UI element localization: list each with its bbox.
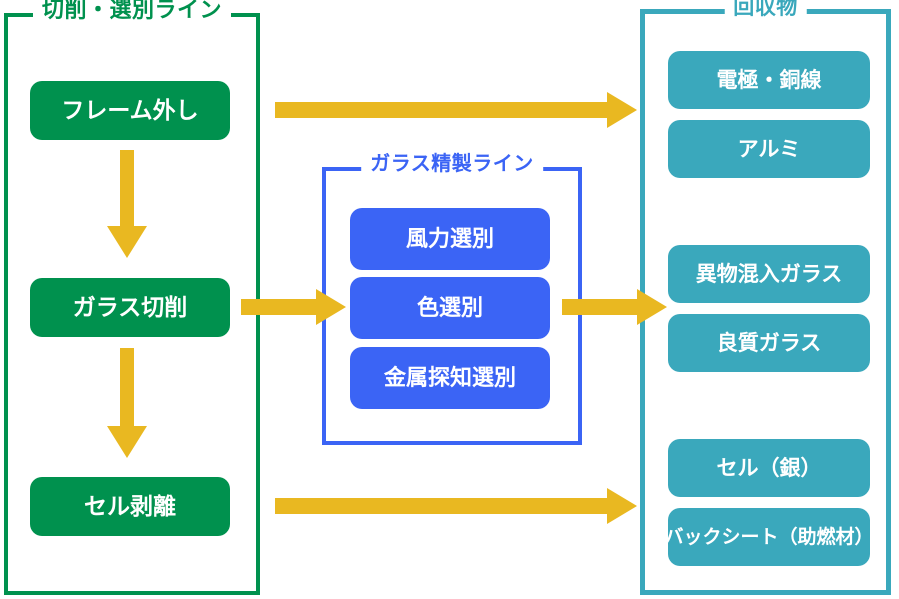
node-backsheet-auxiliary-fuel[interactable]: バックシート（助燃材） — [668, 508, 870, 566]
arrow-shaft — [562, 299, 642, 315]
node-cell-silver[interactable]: セル（銀） — [668, 439, 870, 497]
node-glass-cutting[interactable]: ガラス切削 — [30, 278, 230, 337]
node-color-separation[interactable]: 色選別 — [350, 277, 550, 339]
node-color-separation-label: 色選別 — [417, 297, 483, 319]
arrow-frame-removal-to-recovered — [275, 92, 637, 128]
node-quality-glass[interactable]: 良質ガラス — [668, 314, 870, 372]
group-glass-refining-title: ガラス精製ライン — [361, 153, 543, 175]
node-air-separation[interactable]: 風力選別 — [350, 208, 550, 270]
node-air-separation-label: 風力選別 — [406, 228, 494, 250]
node-cell-peeling-label: セル剥離 — [84, 495, 176, 518]
arrow-head-right-icon — [316, 289, 346, 325]
group-cutting-line-title: 切削・選別ライン — [33, 0, 231, 22]
arrow-shaft — [275, 102, 615, 118]
node-electrode-copper-wire-label: 電極・銅線 — [717, 70, 822, 91]
arrow-head-right-icon — [607, 92, 637, 128]
node-quality-glass-label: 良質ガラス — [717, 333, 822, 354]
arrow-shaft — [241, 299, 321, 315]
node-frame-removal[interactable]: フレーム外し — [30, 81, 230, 140]
arrow-head-right-icon — [637, 289, 667, 325]
node-frame-removal-label: フレーム外し — [61, 99, 198, 122]
arrow-head-down-icon — [107, 426, 147, 458]
group-recovered-materials-title: 回収物 — [724, 0, 807, 19]
node-backsheet-auxiliary-fuel-label: バックシート（助燃材） — [665, 528, 874, 547]
node-contaminated-glass-label: 異物混入ガラス — [696, 264, 843, 285]
node-electrode-copper-wire[interactable]: 電極・銅線 — [668, 51, 870, 109]
arrow-head-right-icon — [607, 488, 637, 524]
process-flow-diagram: 切削・選別ライン フレーム外し ガラス切削 セル剥離 ガラス精製ライン 風力選別… — [0, 0, 899, 599]
arrow-refining-to-recovered — [562, 289, 667, 325]
arrow-glass-cutting-to-cell-peeling — [107, 348, 147, 458]
node-cell-peeling[interactable]: セル剥離 — [30, 477, 230, 536]
node-aluminum[interactable]: アルミ — [668, 120, 870, 178]
arrow-shaft — [120, 348, 134, 426]
node-glass-cutting-label: ガラス切削 — [73, 296, 188, 319]
arrow-shaft — [120, 150, 134, 226]
node-metal-detection-separation-label: 金属探知選別 — [384, 367, 516, 389]
arrow-shaft — [275, 498, 615, 514]
node-cell-silver-label: セル（銀） — [717, 458, 822, 479]
arrow-cell-peeling-to-recovered — [275, 488, 637, 524]
arrow-frame-removal-to-glass-cutting — [107, 150, 147, 258]
node-contaminated-glass[interactable]: 異物混入ガラス — [668, 245, 870, 303]
arrow-head-down-icon — [107, 226, 147, 258]
node-aluminum-label: アルミ — [738, 139, 801, 160]
arrow-glass-cutting-to-refining — [241, 289, 346, 325]
node-metal-detection-separation[interactable]: 金属探知選別 — [350, 347, 550, 409]
